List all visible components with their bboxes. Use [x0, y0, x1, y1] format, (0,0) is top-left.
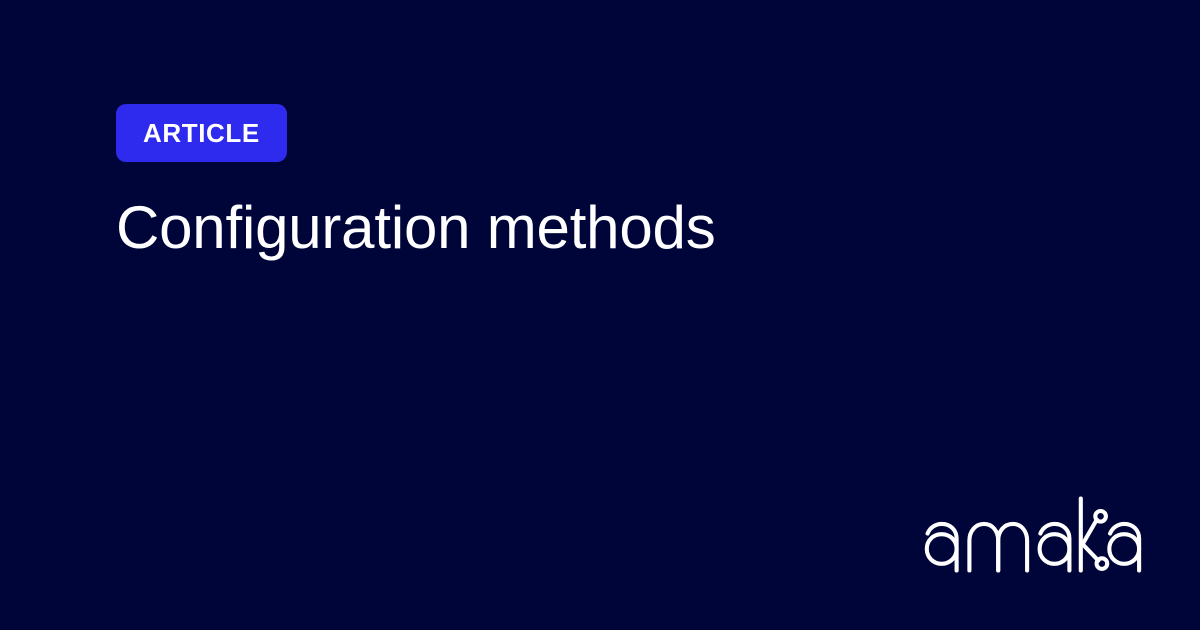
category-badge-label: ARTICLE: [143, 120, 260, 146]
logo-letter-k-arms: [1083, 520, 1099, 561]
logo-letter-k: [1081, 499, 1107, 571]
page-title: Configuration methods: [116, 193, 976, 264]
amaka-logo: [922, 492, 1144, 580]
logo-letter-a-3: [1109, 524, 1139, 571]
logo-letter-a-1: [927, 524, 957, 571]
category-badge: ARTICLE: [116, 104, 287, 162]
logo-letter-a-2: [1040, 524, 1070, 571]
logo-letter-m: [969, 524, 1027, 571]
logo-letter-k-upper-dot: [1095, 511, 1106, 522]
amaka-logo-mark: [922, 492, 1144, 580]
logo-letter-k-lower-dot: [1097, 558, 1108, 569]
social-share-card: ARTICLE Configuration methods: [0, 0, 1200, 630]
